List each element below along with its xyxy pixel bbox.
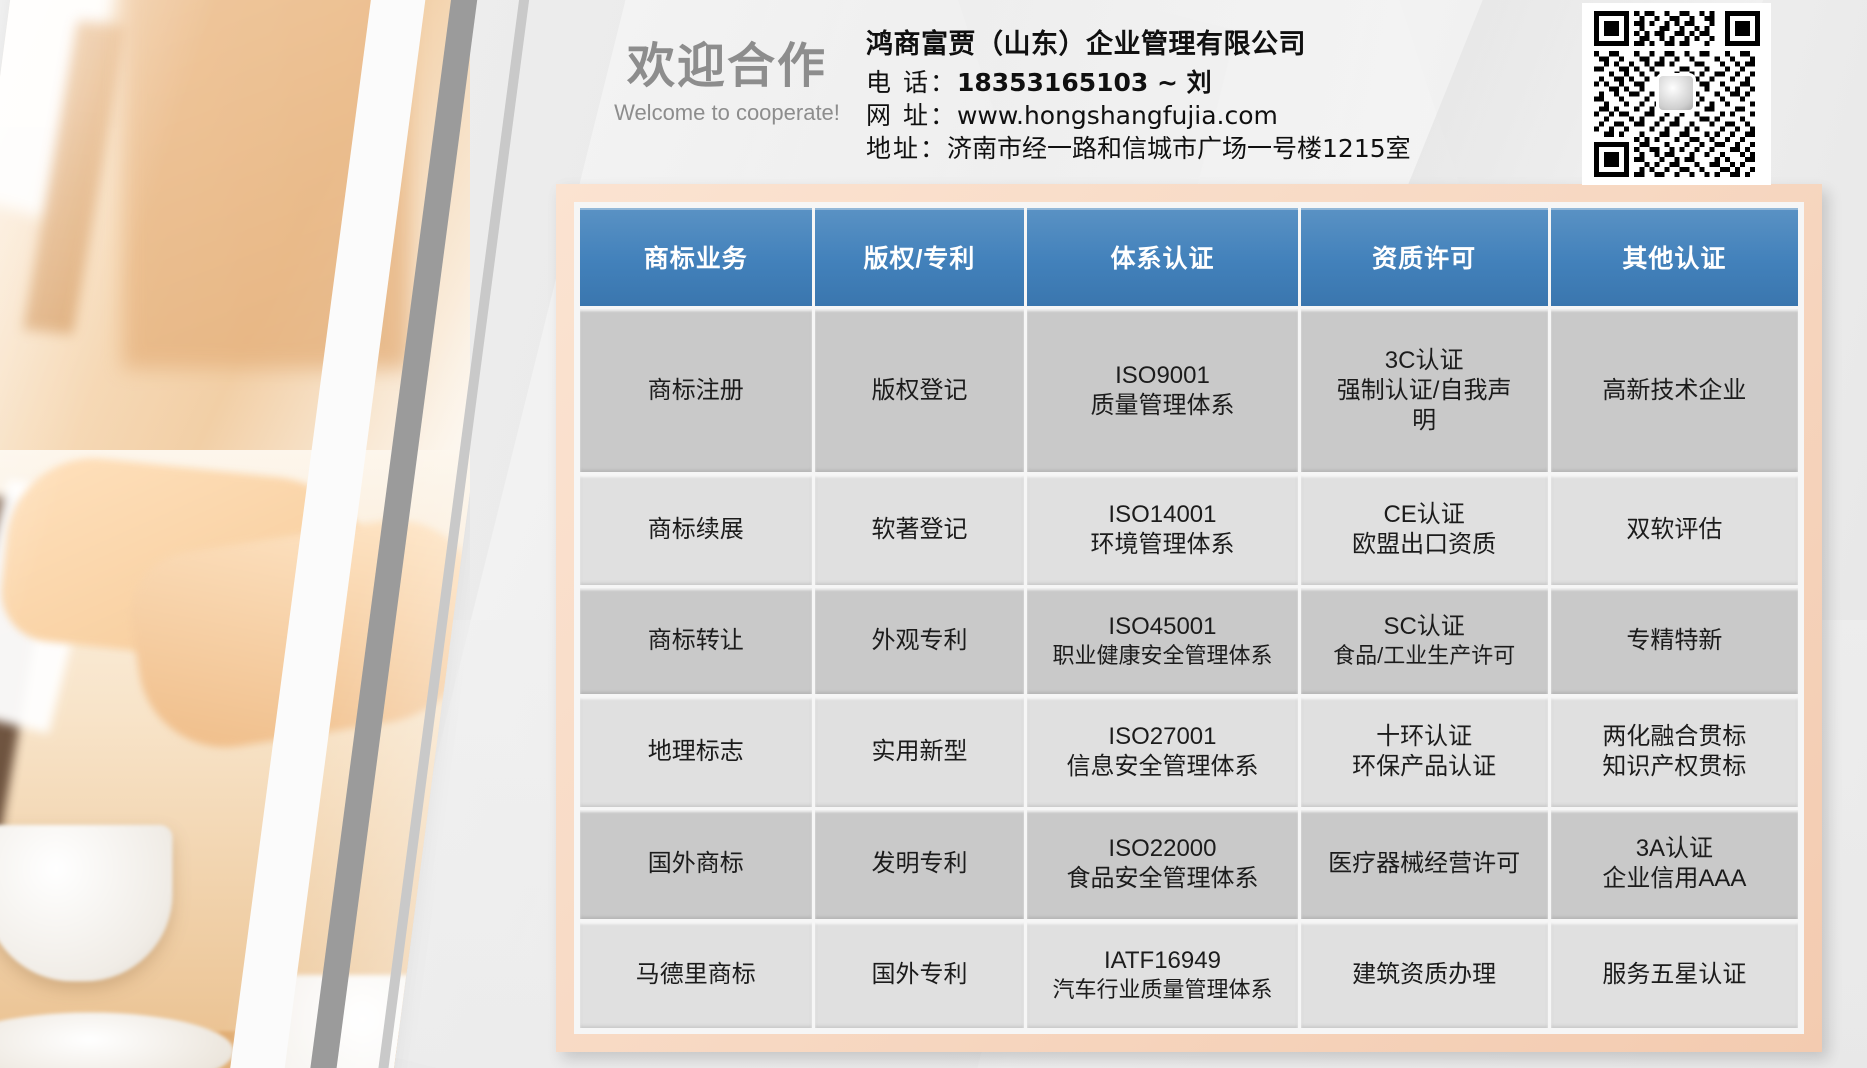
cell-other-certification: 3A认证 企业信用AAA — [1551, 810, 1798, 920]
cell-line-2: 企业信用AAA — [1552, 864, 1797, 894]
cell-line-1: 专精特新 — [1552, 626, 1797, 656]
cell-line-1: IATF16949 — [1028, 946, 1296, 976]
cell-trademark: 商标注册 — [580, 309, 812, 472]
table-row: 地理标志 实用新型 ISO27001 信息安全管理体系 十环认证 环保产品认证 … — [580, 697, 1798, 807]
qr-center-logo-icon — [1656, 73, 1696, 113]
cell-trademark: 商标续展 — [580, 475, 812, 585]
cell-system-certification: IATF16949 汽车行业质量管理体系 — [1027, 922, 1297, 1028]
cell-copyright-patent: 软著登记 — [815, 475, 1025, 585]
cell-other-certification: 双软评估 — [1551, 475, 1798, 585]
cell-line-1: ISO9001 — [1028, 361, 1296, 391]
table-header-row: 商标业务 版权/专利 体系认证 资质许可 其他认证 — [580, 208, 1798, 306]
cell-line-1: ISO45001 — [1028, 612, 1296, 642]
welcome-title-cn: 欢迎合作 — [602, 42, 852, 92]
col-header-copyright-patent: 版权/专利 — [815, 208, 1025, 306]
cell-line-1: 两化融合贯标 — [1552, 722, 1797, 752]
cell-line-2: 环境管理体系 — [1028, 530, 1296, 560]
cell-line-2: 食品安全管理体系 — [1028, 864, 1296, 894]
cell-line-2: 信息安全管理体系 — [1028, 752, 1296, 782]
cell-line-2: 质量管理体系 — [1028, 391, 1296, 421]
table-row: 商标续展 软著登记 ISO14001 环境管理体系 CE认证 欧盟出口资质 双软… — [580, 475, 1798, 585]
cell-system-certification: ISO14001 环境管理体系 — [1027, 475, 1297, 585]
cell-trademark: 商标转让 — [580, 588, 812, 694]
cell-other-certification: 服务五星认证 — [1551, 922, 1798, 1028]
cell-line-1: 3C认证 — [1302, 346, 1547, 376]
cell-other-certification: 两化融合贯标 知识产权贯标 — [1551, 697, 1798, 807]
cell-qualification-license: 建筑资质办理 — [1301, 922, 1548, 1028]
cell-line-2: 环保产品认证 — [1302, 752, 1547, 782]
cell-system-certification: ISO22000 食品安全管理体系 — [1027, 810, 1297, 920]
company-name: 鸿商富贾（山东）企业管理有限公司 — [866, 22, 1411, 61]
cell-copyright-patent: 版权登记 — [815, 309, 1025, 472]
cell-qualification-license: SC认证 食品/工业生产许可 — [1301, 588, 1548, 694]
cell-system-certification: ISO27001 信息安全管理体系 — [1027, 697, 1297, 807]
cell-qualification-license: 3C认证 强制认证/自我声 明 — [1301, 309, 1548, 472]
cell-line-2: 食品/工业生产许可 — [1302, 642, 1547, 670]
cell-line-1: 十环认证 — [1302, 722, 1547, 752]
website-line: 网 址：www.hongshangfujia.com — [866, 99, 1411, 132]
cell-line-1: SC认证 — [1302, 612, 1547, 642]
cell-line-1: 双软评估 — [1552, 515, 1797, 545]
cell-line-2: 强制认证/自我声 — [1302, 376, 1547, 406]
welcome-title-en: Welcome to cooperate! — [602, 100, 852, 126]
qr-code-icon — [1594, 11, 1760, 177]
cell-other-certification: 高新技术企业 — [1551, 309, 1798, 472]
col-header-system-certification: 体系认证 — [1027, 208, 1297, 306]
address-line: 地址：济南市经一路和信城市广场一号楼1215室 — [866, 132, 1411, 165]
cell-trademark: 马德里商标 — [580, 922, 812, 1028]
cell-line-1: CE认证 — [1302, 500, 1547, 530]
cell-line-1: 服务五星认证 — [1552, 960, 1797, 990]
table-head: 商标业务 版权/专利 体系认证 资质许可 其他认证 — [580, 208, 1798, 306]
website-label: 网 址： — [866, 101, 957, 130]
cell-copyright-patent: 外观专利 — [815, 588, 1025, 694]
services-table-inner: 商标业务 版权/专利 体系认证 资质许可 其他认证 商标注册 版权登记 ISO9… — [574, 202, 1804, 1034]
cell-qualification-license: CE认证 欧盟出口资质 — [1301, 475, 1548, 585]
col-header-qualification-license: 资质许可 — [1301, 208, 1548, 306]
cell-line-2: 汽车行业质量管理体系 — [1028, 976, 1296, 1004]
cell-qualification-license: 医疗器械经营许可 — [1301, 810, 1548, 920]
cell-line-1: 高新技术企业 — [1552, 376, 1797, 406]
address-label: 地址： — [866, 134, 947, 163]
contact-block: 鸿商富贾（山东）企业管理有限公司 电 话：18353165103 ~ 刘 网 址… — [866, 22, 1411, 165]
cell-line-3: 明 — [1302, 406, 1547, 436]
services-table: 商标业务 版权/专利 体系认证 资质许可 其他认证 商标注册 版权登记 ISO9… — [577, 205, 1801, 1031]
cell-line-1: 建筑资质办理 — [1302, 960, 1547, 990]
cell-copyright-patent: 实用新型 — [815, 697, 1025, 807]
cell-line-2: 职业健康安全管理体系 — [1028, 642, 1296, 670]
col-header-trademark: 商标业务 — [580, 208, 812, 306]
website-value[interactable]: www.hongshangfujia.com — [957, 101, 1278, 130]
table-body: 商标注册 版权登记 ISO9001 质量管理体系 3C认证 强制认证/自我声 明 — [580, 309, 1798, 1028]
cell-line-1: ISO22000 — [1028, 834, 1296, 864]
qr-code-card[interactable] — [1582, 3, 1771, 185]
table-row: 国外商标 发明专利 ISO22000 食品安全管理体系 医疗器械经营许可 3A认… — [580, 810, 1798, 920]
cell-system-certification: ISO9001 质量管理体系 — [1027, 309, 1297, 472]
cell-trademark: 国外商标 — [580, 810, 812, 920]
phone-line: 电 话：18353165103 ~ 刘 — [866, 66, 1411, 99]
phone-label: 电 话： — [866, 68, 957, 97]
table-row: 商标转让 外观专利 ISO45001 职业健康安全管理体系 SC认证 食品/工业… — [580, 588, 1798, 694]
cell-line-1: 3A认证 — [1552, 834, 1797, 864]
cell-line-1: ISO14001 — [1028, 500, 1296, 530]
services-table-frame: 商标业务 版权/专利 体系认证 资质许可 其他认证 商标注册 版权登记 ISO9… — [556, 184, 1822, 1052]
cell-qualification-license: 十环认证 环保产品认证 — [1301, 697, 1548, 807]
cell-trademark: 地理标志 — [580, 697, 812, 807]
cell-line-2: 知识产权贯标 — [1552, 752, 1797, 782]
cell-line-2: 欧盟出口资质 — [1302, 530, 1547, 560]
address-value: 济南市经一路和信城市广场一号楼1215室 — [947, 134, 1411, 163]
poster-canvas: 欢迎合作 Welcome to cooperate! 鸿商富贾（山东）企业管理有… — [0, 0, 1867, 1068]
phone-value: 18353165103 ~ 刘 — [957, 68, 1212, 97]
cell-system-certification: ISO45001 职业健康安全管理体系 — [1027, 588, 1297, 694]
cell-line-1: ISO27001 — [1028, 722, 1296, 752]
col-header-other-certification: 其他认证 — [1551, 208, 1798, 306]
table-row: 商标注册 版权登记 ISO9001 质量管理体系 3C认证 强制认证/自我声 明 — [580, 309, 1798, 472]
welcome-block: 欢迎合作 Welcome to cooperate! — [602, 42, 852, 126]
cell-line-1: 医疗器械经营许可 — [1302, 849, 1547, 879]
cell-copyright-patent: 发明专利 — [815, 810, 1025, 920]
cell-copyright-patent: 国外专利 — [815, 922, 1025, 1028]
cell-other-certification: 专精特新 — [1551, 588, 1798, 694]
table-row: 马德里商标 国外专利 IATF16949 汽车行业质量管理体系 建筑资质办理 服… — [580, 922, 1798, 1028]
